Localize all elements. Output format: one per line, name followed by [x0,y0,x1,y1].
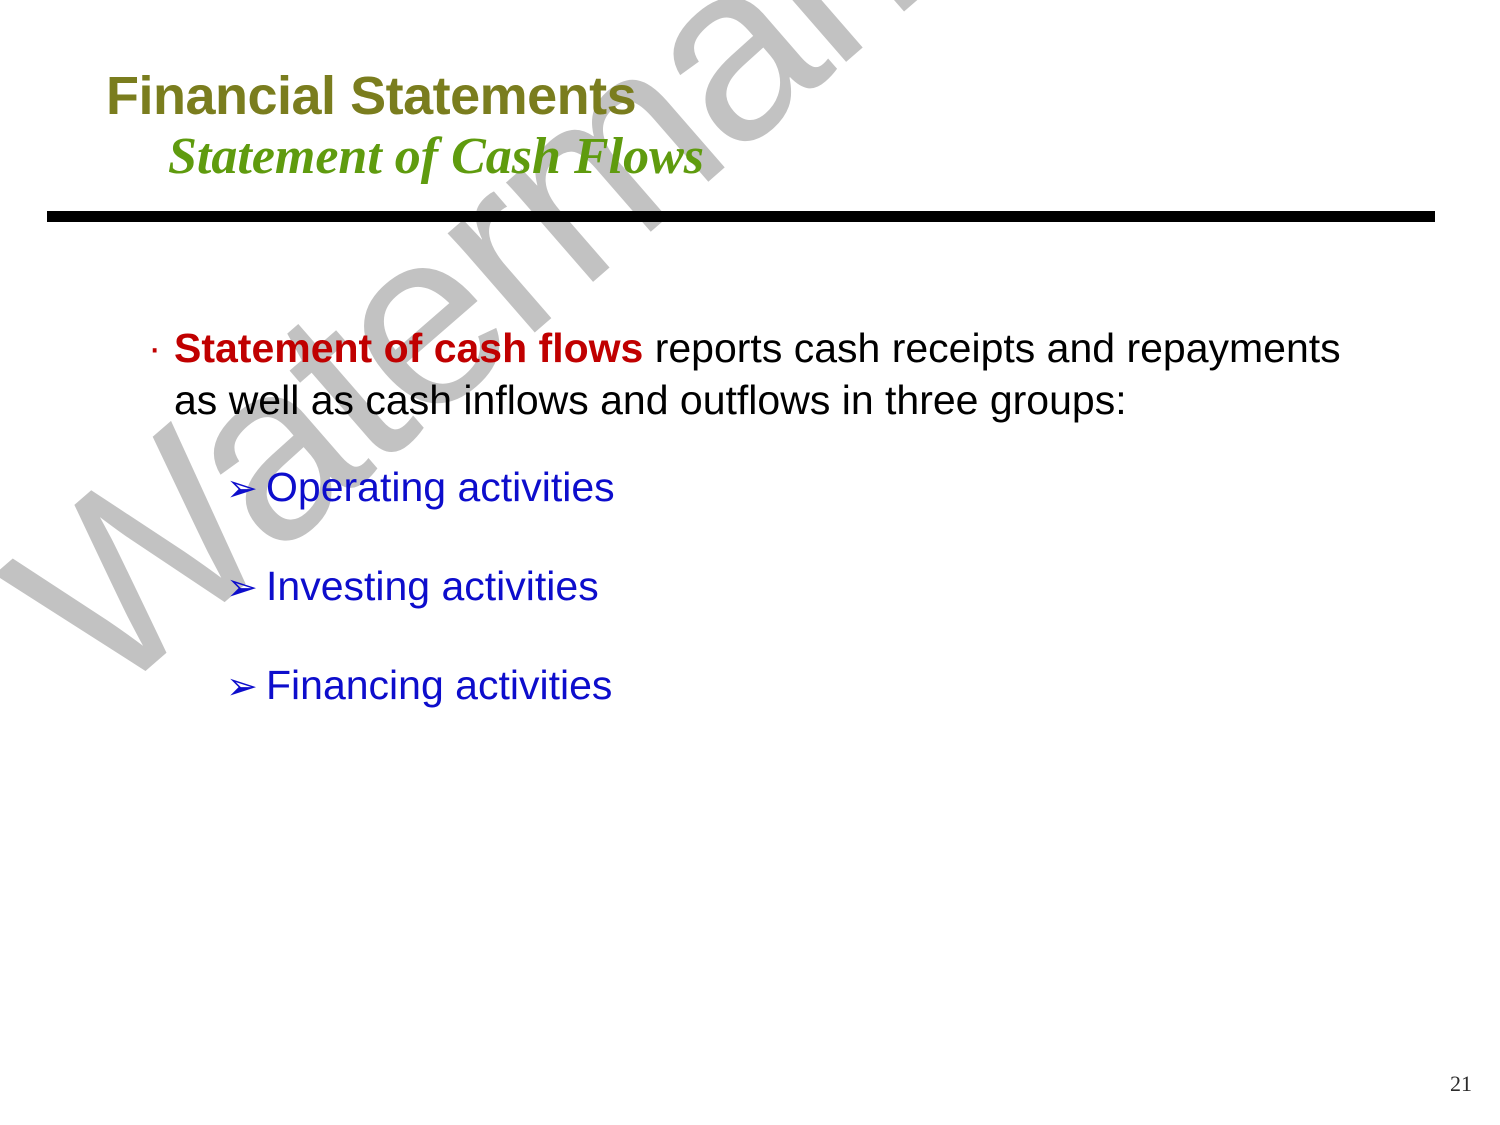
page-title: Financial Statements [106,66,1426,126]
list-item: ➢ Financing activities [226,660,1378,711]
slide-title-block: Financial Statements Statement of Cash F… [106,66,1426,186]
presentation-slide: Watermark Financial Statements Statement… [0,0,1500,1125]
sub-bullet-label-operating: Operating activities [266,462,1378,512]
arrow-bullet-icon: ➢ [226,562,266,612]
list-item: ➢ Investing activities [226,561,1378,612]
dot-bullet-icon: · [148,322,174,374]
sub-bullet-label-financing: Financing activities [266,660,1378,710]
page-number: 21 [1450,1071,1472,1097]
sub-bullet-label-investing: Investing activities [266,561,1378,611]
main-bullet-text: Statement of cash flows reports cash rec… [174,322,1378,426]
main-bullet-row: · Statement of cash flows reports cash r… [148,322,1378,426]
arrow-bullet-icon: ➢ [226,661,266,711]
main-bullet-emphasis: Statement of cash flows [174,325,643,371]
slide-content: Financial Statements Statement of Cash F… [0,0,1500,1125]
slide-body: · Statement of cash flows reports cash r… [148,322,1378,759]
sub-bullet-list: ➢ Operating activities ➢ Investing activ… [226,462,1378,711]
list-item: ➢ Operating activities [226,462,1378,513]
page-subtitle: Statement of Cash Flows [168,128,1426,186]
arrow-bullet-icon: ➢ [226,463,266,513]
title-divider-rule [47,211,1435,222]
